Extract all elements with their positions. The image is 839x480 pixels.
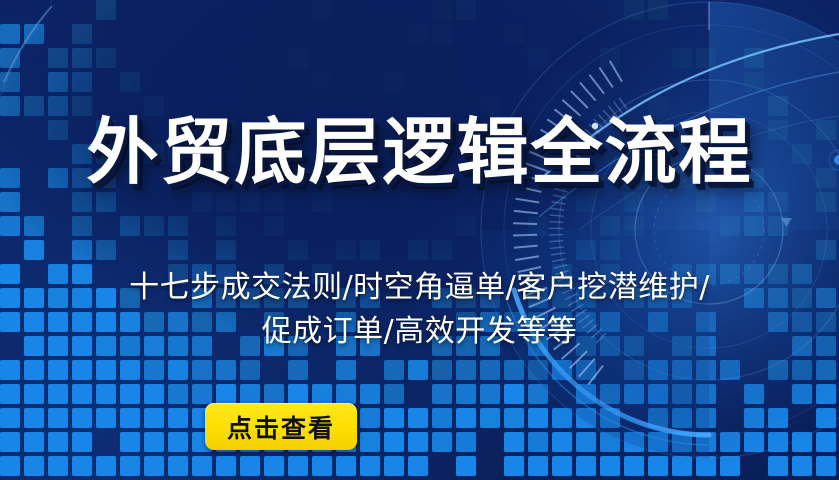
page-subtitle: 十七步成交法则/时空角逼单/客户挖潜维护/ 促成订单/高效开发等等 — [0, 266, 839, 354]
click-to-view-button[interactable]: 点击查看 — [205, 403, 357, 450]
background-gradient — [0, 0, 839, 480]
promo-poster: 外贸底层逻辑全流程 十七步成交法则/时空角逼单/客户挖潜维护/ 促成订单/高效开… — [0, 0, 839, 480]
subtitle-line-1: 十七步成交法则/时空角逼单/客户挖潜维护/ — [0, 266, 839, 310]
page-title: 外贸底层逻辑全流程 — [0, 110, 839, 194]
subtitle-line-2: 促成订单/高效开发等等 — [0, 310, 839, 354]
